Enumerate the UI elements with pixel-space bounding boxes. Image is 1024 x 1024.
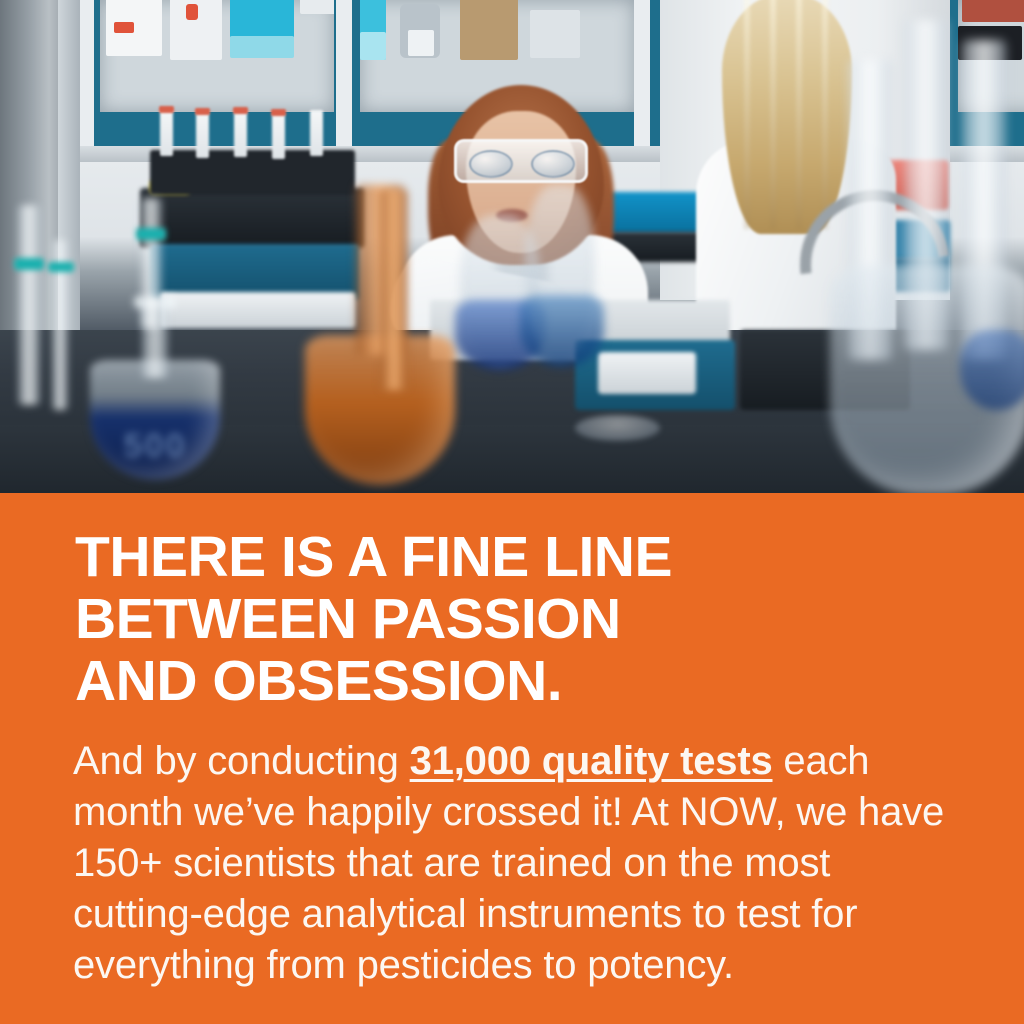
flask-liquid	[520, 295, 604, 367]
flask-volume-label: 500	[113, 426, 196, 466]
lab-photo: 500	[0, 0, 1024, 493]
flask-liquid	[960, 330, 1024, 410]
foreground-glass-rod	[18, 205, 40, 405]
test-tube	[196, 112, 209, 158]
bench-instrument-panel	[598, 352, 696, 394]
foreground-glass-rod	[140, 198, 162, 328]
test-tube-cap	[271, 109, 286, 116]
pipette-tip	[136, 228, 166, 240]
foreground-glass-rod	[380, 190, 408, 390]
body-copy: And by conducting 31,000 quality tests e…	[73, 736, 963, 991]
cabinet-frame	[78, 0, 94, 152]
test-tube	[234, 111, 247, 157]
test-tube	[272, 113, 285, 159]
foreground-flask-clear-large	[830, 60, 1024, 493]
safety-goggles	[454, 139, 588, 183]
goggle-lens	[469, 150, 513, 178]
social-graphic-canvas: 500 THERE IS A FINE LINE BETWEEN PASSION…	[0, 0, 1024, 1024]
pipette-tip	[14, 258, 44, 270]
test-tube	[160, 110, 173, 156]
test-tube-cap	[233, 107, 248, 114]
test-tube-cap	[159, 106, 174, 113]
flask-body: 500	[90, 360, 220, 480]
petri-dish	[575, 415, 660, 441]
test-tube	[310, 110, 323, 156]
cabinet-glass-door	[92, 0, 342, 120]
page-title: THERE IS A FINE LINE BETWEEN PASSION AND…	[75, 526, 975, 712]
goggle-lens	[531, 150, 575, 178]
cabinet-frame	[336, 0, 352, 152]
test-tube-cap	[195, 108, 210, 115]
body-copy-before: And by conducting	[73, 739, 410, 783]
stat-highlight-quality-tests: 31,000 quality tests	[410, 739, 773, 783]
pipette-tip	[48, 262, 74, 272]
